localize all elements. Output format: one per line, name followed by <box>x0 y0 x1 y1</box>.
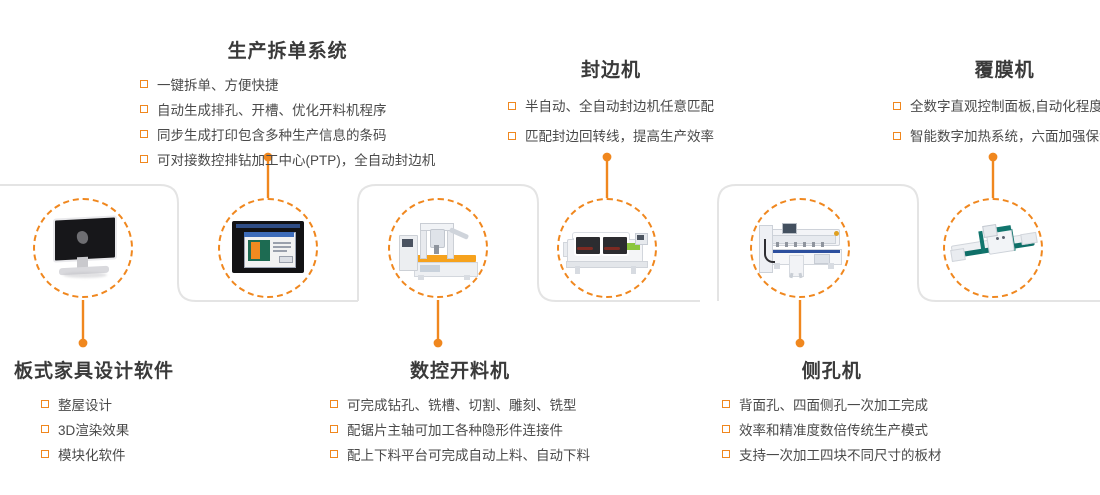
checkbox-icon <box>140 105 148 113</box>
checkbox-icon <box>330 400 338 408</box>
block-cnc-router: 数控开料机 可完成钻孔、铣槽、切割、雕刻、铣型 配锯片主轴可加工各种隐形件连接件… <box>330 356 590 468</box>
block-order-splitting: 生产拆单系统 一键拆单、方便快捷 自动生成排孔、开槽、优化开料机程序 同步生成打… <box>140 36 435 173</box>
stem-dot-laminator <box>989 153 998 162</box>
checkbox-icon <box>330 425 338 433</box>
list-item-label: 3D渲染效果 <box>58 423 129 438</box>
block-list-order-splitting: 一键拆单、方便快捷 自动生成排孔、开槽、优化开料机程序 同步生成打印包含多种生产… <box>140 73 435 173</box>
checkbox-icon <box>41 450 49 458</box>
block-list-design-software: 整屋设计 3D渲染效果 模块化软件 <box>38 393 174 468</box>
checkbox-icon <box>41 400 49 408</box>
checkbox-icon <box>508 132 516 140</box>
art-imac <box>39 209 127 287</box>
block-list-cnc-router: 可完成钻孔、铣槽、切割、雕刻、铣型 配锯片主轴可加工各种隐形件连接件 配上下料平… <box>330 393 590 468</box>
list-item-label: 效率和精准度数倍传统生产模式 <box>739 423 928 438</box>
node-side-driller[interactable] <box>750 198 850 298</box>
list-item-label: 整屋设计 <box>58 398 112 413</box>
list-item-label: 智能数字加热系统，六面加强保温 <box>910 129 1100 144</box>
block-title-edge-bander: 封边机 <box>508 55 714 82</box>
list-item-label: 配锯片主轴可加工各种隐形件连接件 <box>347 423 563 438</box>
list-item-label: 一键拆单、方便快捷 <box>157 78 279 93</box>
list-item-label: 模块化软件 <box>58 448 126 463</box>
block-title-order-splitting: 生产拆单系统 <box>140 36 435 63</box>
block-edge-bander: 封边机 半自动、全自动封边机任意匹配 匹配封边回转线，提高生产效率 <box>508 55 714 152</box>
block-side-driller: 侧孔机 背面孔、四面侧孔一次加工完成 效率和精准度数倍传统生产模式 支持一次加工… <box>722 356 942 468</box>
list-item-label: 同步生成打印包含多种生产信息的条码 <box>157 128 387 143</box>
stem-dot-cnc-router <box>434 339 443 348</box>
art-tablet-software <box>224 209 312 287</box>
list-item: 半自动、全自动封边机任意匹配 <box>508 92 714 122</box>
list-item: 背面孔、四面侧孔一次加工完成 <box>722 393 942 418</box>
node-edge-bander[interactable] <box>557 198 657 298</box>
node-order-splitting[interactable] <box>218 198 318 298</box>
list-item: 匹配封边回转线，提高生产效率 <box>508 122 714 152</box>
art-side-drilling-machine <box>756 209 844 287</box>
list-item-label: 可对接数控排钻加工中心(PTP)，全自动封边机 <box>157 153 435 168</box>
stem-dot-edge-bander <box>603 153 612 162</box>
list-item: 3D渲染效果 <box>38 418 174 443</box>
block-title-design-software: 板式家具设计软件 <box>14 356 174 383</box>
checkbox-icon <box>140 155 148 163</box>
list-item: 整屋设计 <box>38 393 174 418</box>
node-cnc-router[interactable] <box>388 198 488 298</box>
checkbox-icon <box>722 450 730 458</box>
checkbox-icon <box>893 102 901 110</box>
block-design-software: 板式家具设计软件 整屋设计 3D渲染效果 模块化软件 <box>14 356 174 468</box>
list-item: 可对接数控排钻加工中心(PTP)，全自动封边机 <box>140 148 435 173</box>
art-laminating-machine <box>949 209 1037 287</box>
list-item: 支持一次加工四块不同尺寸的板材 <box>722 443 942 468</box>
list-item: 配上下料平台可完成自动上料、自动下料 <box>330 443 590 468</box>
stem-dot-design-software <box>79 339 88 348</box>
node-laminator[interactable] <box>943 198 1043 298</box>
block-list-edge-bander: 半自动、全自动封边机任意匹配 匹配封边回转线，提高生产效率 <box>508 92 714 152</box>
block-laminator: 覆膜机 全数字直观控制面板,自动化程度高 智能数字加热系统，六面加强保温 <box>893 55 1100 152</box>
list-item: 同步生成打印包含多种生产信息的条码 <box>140 123 435 148</box>
checkbox-icon <box>508 102 516 110</box>
list-item-label: 配上下料平台可完成自动上料、自动下料 <box>347 448 590 463</box>
list-item-label: 支持一次加工四块不同尺寸的板材 <box>739 448 942 463</box>
list-item-label: 背面孔、四面侧孔一次加工完成 <box>739 398 928 413</box>
checkbox-icon <box>140 130 148 138</box>
list-item: 一键拆单、方便快捷 <box>140 73 435 98</box>
checkbox-icon <box>893 132 901 140</box>
checkbox-icon <box>140 80 148 88</box>
list-item: 全数字直观控制面板,自动化程度高 <box>893 92 1100 122</box>
block-list-laminator: 全数字直观控制面板,自动化程度高 智能数字加热系统，六面加强保温 <box>893 92 1100 152</box>
list-item: 配锯片主轴可加工各种隐形件连接件 <box>330 418 590 443</box>
list-item-label: 自动生成排孔、开槽、优化开料机程序 <box>157 103 387 118</box>
block-title-side-driller: 侧孔机 <box>722 356 942 383</box>
list-item-label: 全数字直观控制面板,自动化程度高 <box>910 99 1100 114</box>
list-item-label: 半自动、全自动封边机任意匹配 <box>525 99 714 114</box>
art-edge-bander <box>563 209 651 287</box>
list-item: 可完成钻孔、铣槽、切割、雕刻、铣型 <box>330 393 590 418</box>
block-title-laminator: 覆膜机 <box>893 55 1100 82</box>
list-item: 智能数字加热系统，六面加强保温 <box>893 122 1100 152</box>
list-item: 效率和精准度数倍传统生产模式 <box>722 418 942 443</box>
checkbox-icon <box>722 425 730 433</box>
infographic-canvas: 生产拆单系统 一键拆单、方便快捷 自动生成排孔、开槽、优化开料机程序 同步生成打… <box>0 0 1100 495</box>
list-item: 自动生成排孔、开槽、优化开料机程序 <box>140 98 435 123</box>
block-title-cnc-router: 数控开料机 <box>330 356 590 383</box>
list-item-label: 可完成钻孔、铣槽、切割、雕刻、铣型 <box>347 398 577 413</box>
list-item-label: 匹配封边回转线，提高生产效率 <box>525 129 714 144</box>
art-cnc-router <box>394 209 482 287</box>
checkbox-icon <box>41 425 49 433</box>
checkbox-icon <box>330 450 338 458</box>
list-item: 模块化软件 <box>38 443 174 468</box>
stem-dot-side-driller <box>796 339 805 348</box>
block-list-side-driller: 背面孔、四面侧孔一次加工完成 效率和精准度数倍传统生产模式 支持一次加工四块不同… <box>722 393 942 468</box>
node-design-software[interactable] <box>33 198 133 298</box>
checkbox-icon <box>722 400 730 408</box>
